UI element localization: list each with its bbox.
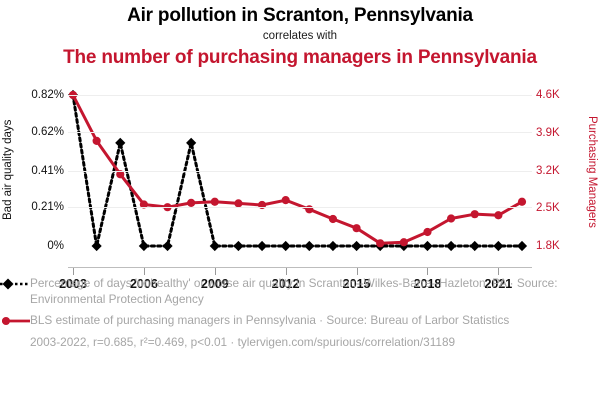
left-axis-tick-label: 0% bbox=[14, 241, 64, 252]
left-axis-ticks: 0%0.21%0.41%0.62%0.82% bbox=[14, 84, 64, 269]
gridline bbox=[68, 95, 532, 96]
data-point-marker bbox=[352, 224, 360, 232]
black-diamond-dotted-line-icon bbox=[0, 277, 30, 291]
x-axis-tick bbox=[144, 268, 145, 275]
right-axis-tick-label: 4.6K bbox=[536, 90, 582, 101]
right-axis-tick-label: 3.2K bbox=[536, 166, 582, 177]
plot-area: 2003200620092012201520182021 bbox=[68, 84, 532, 269]
data-point-marker bbox=[233, 241, 243, 251]
data-point-marker bbox=[115, 138, 125, 148]
legend-item-purchasing-managers: BLS estimate of purchasing managers in P… bbox=[0, 313, 600, 329]
correlates-with-label: correlates with bbox=[0, 28, 600, 44]
data-point-marker bbox=[470, 241, 480, 251]
data-point-marker bbox=[494, 211, 502, 219]
gridline bbox=[68, 207, 532, 208]
data-point-marker bbox=[376, 239, 384, 247]
legend-label-air-quality: Percentage of days 'unhealthy' or worse … bbox=[30, 276, 570, 307]
chart-footer-stats: 2003-2022, r=0.685, r²=0.469, p<0.01 · t… bbox=[30, 335, 600, 350]
data-point-marker bbox=[139, 241, 149, 251]
x-axis-tick bbox=[286, 268, 287, 275]
left-axis-tick-label: 0.21% bbox=[14, 202, 64, 213]
series-layer bbox=[68, 84, 532, 269]
data-point-marker bbox=[400, 238, 408, 246]
data-point-marker bbox=[211, 198, 219, 206]
legend: Percentage of days 'unhealthy' or worse … bbox=[0, 276, 600, 350]
page-title: Air pollution in Scranton, Pennsylvania bbox=[0, 5, 600, 27]
x-axis-tick bbox=[498, 268, 499, 275]
data-point-marker bbox=[422, 241, 432, 251]
x-axis-tick bbox=[73, 268, 74, 275]
data-point-marker bbox=[92, 241, 102, 251]
data-point-marker bbox=[210, 241, 220, 251]
series-line-1 bbox=[73, 95, 522, 243]
gridline bbox=[68, 132, 532, 133]
legend-item-air-quality: Percentage of days 'unhealthy' or worse … bbox=[0, 276, 600, 307]
spurious-correlation-chart: Air pollution in Scranton, Pennsylvania … bbox=[0, 0, 600, 408]
data-point-marker bbox=[282, 196, 290, 204]
data-point-marker bbox=[93, 137, 101, 145]
data-point-marker bbox=[187, 199, 195, 207]
left-axis-tick-label: 0.82% bbox=[14, 90, 64, 101]
data-point-marker bbox=[423, 228, 431, 236]
data-point-marker bbox=[162, 241, 172, 251]
right-axis-title: Purchasing Managers bbox=[586, 88, 598, 256]
legend-label-purchasing-managers: BLS estimate of purchasing managers in P… bbox=[30, 313, 509, 329]
chart-header: Air pollution in Scranton, Pennsylvania … bbox=[0, 0, 600, 70]
x-axis-line bbox=[68, 267, 532, 268]
data-point-marker bbox=[257, 241, 267, 251]
data-point-marker bbox=[281, 241, 291, 251]
data-point-marker bbox=[471, 210, 479, 218]
data-point-marker bbox=[328, 241, 338, 251]
data-point-marker bbox=[517, 241, 527, 251]
left-axis-tick-label: 0.41% bbox=[14, 166, 64, 177]
x-axis-tick bbox=[215, 268, 216, 275]
data-point-marker bbox=[493, 241, 503, 251]
x-axis-tick bbox=[357, 268, 358, 275]
data-point-marker bbox=[351, 241, 361, 251]
page-subtitle: The number of purchasing managers in Pen… bbox=[0, 46, 600, 70]
gridline bbox=[68, 171, 532, 172]
left-axis-tick-label: 0.62% bbox=[14, 127, 64, 138]
right-axis-tick-label: 2.5K bbox=[536, 203, 582, 214]
left-axis-title: Bad air quality days bbox=[2, 90, 14, 250]
red-circle-solid-line-icon bbox=[0, 314, 30, 328]
right-axis-tick-label: 1.8K bbox=[536, 241, 582, 252]
data-point-marker bbox=[186, 138, 196, 148]
data-point-marker bbox=[304, 241, 314, 251]
x-axis-tick bbox=[427, 268, 428, 275]
data-point-marker bbox=[329, 215, 337, 223]
right-axis-tick-label: 3.9K bbox=[536, 128, 582, 139]
data-point-marker bbox=[234, 199, 242, 207]
plot-region: Bad air quality days Purchasing Managers… bbox=[0, 84, 600, 269]
data-point-marker bbox=[518, 198, 526, 206]
data-point-marker bbox=[446, 241, 456, 251]
right-axis-ticks: 1.8K2.5K3.2K3.9K4.6K bbox=[536, 84, 582, 269]
data-point-marker bbox=[447, 214, 455, 222]
